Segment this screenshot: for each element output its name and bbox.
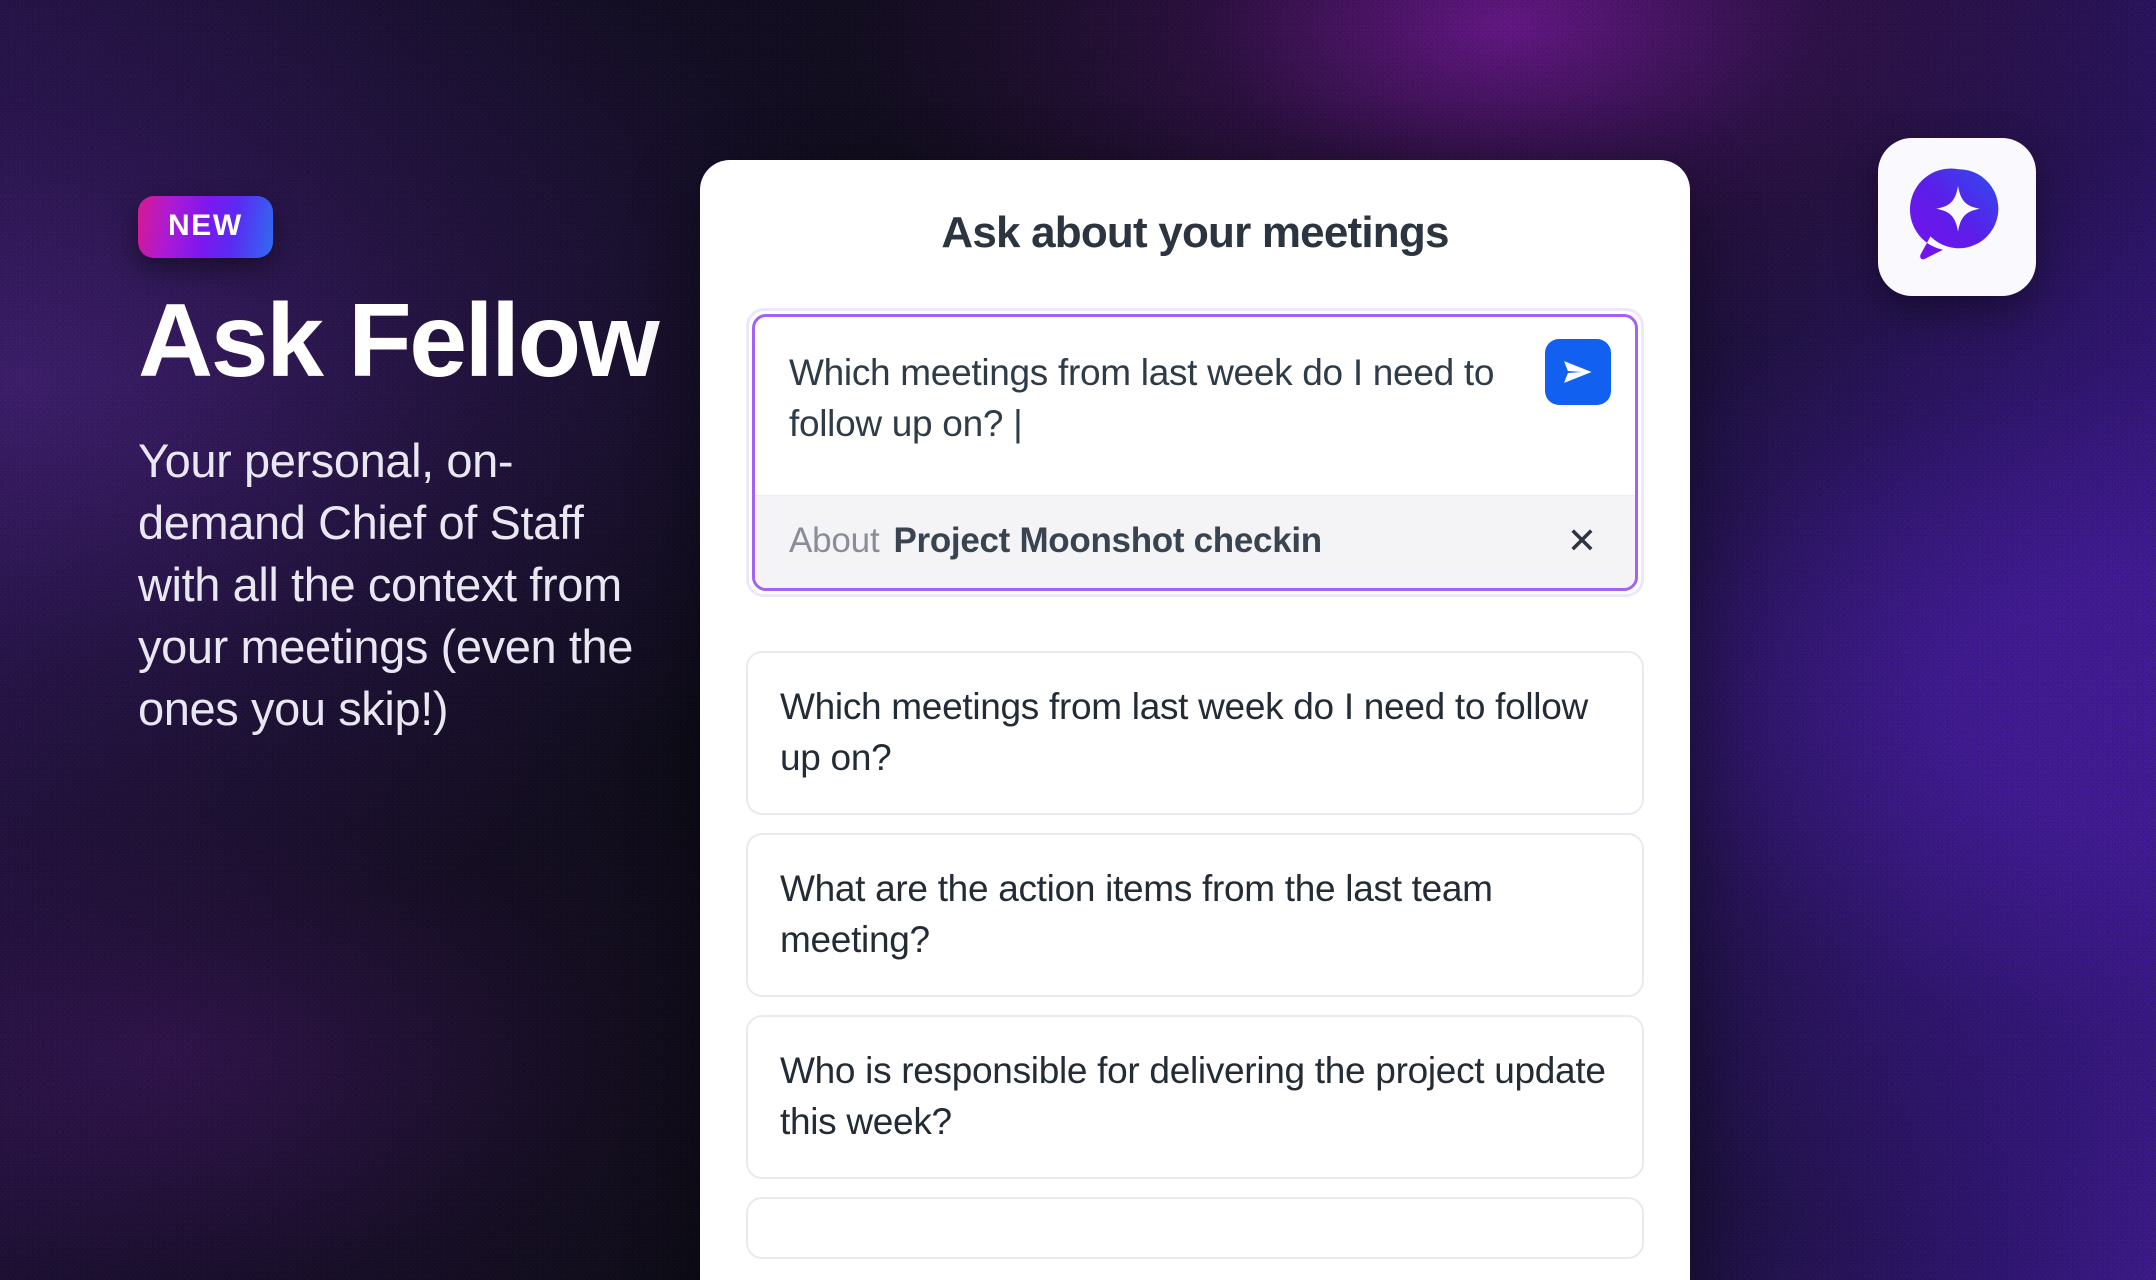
context-prefix-label: About [789,521,879,561]
composer-body[interactable]: Which meetings from last week do I need … [755,317,1635,495]
hero-subtitle: Your personal, on-demand Chief of Staff … [138,430,658,740]
hero-copy-column: NEW Ask Fellow Your personal, on-demand … [138,196,698,740]
suggestion-list: Which meetings from last week do I need … [746,651,1644,1259]
send-icon [1559,353,1597,391]
new-badge: NEW [138,196,273,258]
send-button[interactable] [1545,339,1611,405]
panel-title: Ask about your meetings [700,208,1690,258]
list-item[interactable]: What are the action items from the last … [746,833,1644,997]
composer-focus-ring: Which meetings from last week do I need … [746,308,1644,597]
app-launcher-icon[interactable] [1878,138,2036,296]
composer-input[interactable]: Which meetings from last week do I need … [789,347,1523,449]
ask-fellow-panel: Ask about your meetings Which meetings f… [700,160,1690,1280]
list-item[interactable]: Which meetings from last week do I need … [746,651,1644,815]
context-meeting-name: Project Moonshot checkin [893,521,1545,561]
page-title: Ask Fellow [138,288,698,394]
close-icon[interactable]: ✕ [1559,518,1605,564]
promo-hero-stage: NEW Ask Fellow Your personal, on-demand … [0,0,2156,1280]
composer: Which meetings from last week do I need … [752,314,1638,591]
list-item[interactable]: Who is responsible for delivering the pr… [746,1015,1644,1179]
context-chip-row: About Project Moonshot checkin ✕ [755,495,1635,588]
sparkle-chat-bubble-icon [1905,163,2009,272]
list-item[interactable] [746,1197,1644,1259]
